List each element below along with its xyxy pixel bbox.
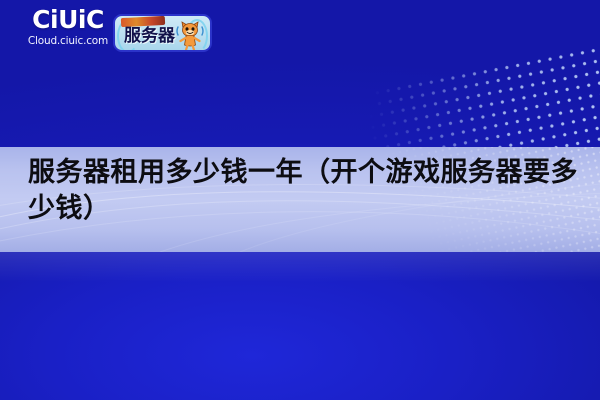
page-title: 服务器租用多少钱一年（开个游戏服务器要多少钱） bbox=[28, 155, 580, 227]
brand-url: Cloud.ciuic.com bbox=[20, 34, 116, 48]
header: CiUiC Cloud.ciuic.com 服务器 bbox=[0, 0, 600, 62]
lower-background bbox=[0, 252, 600, 400]
badge-label: 服务器 bbox=[124, 27, 175, 46]
server-badge: 服务器 bbox=[113, 14, 212, 52]
brand-name: CiUiC bbox=[20, 6, 116, 33]
brand-logo[interactable]: CiUiC Cloud.ciuic.com bbox=[20, 6, 116, 48]
title-band: 服务器租用多少钱一年（开个游戏服务器要多少钱） bbox=[0, 147, 600, 252]
promo-banner-image: CiUiC Cloud.ciuic.com 服务器 bbox=[0, 0, 600, 400]
cartoon-cat-mascot-icon bbox=[175, 19, 205, 52]
